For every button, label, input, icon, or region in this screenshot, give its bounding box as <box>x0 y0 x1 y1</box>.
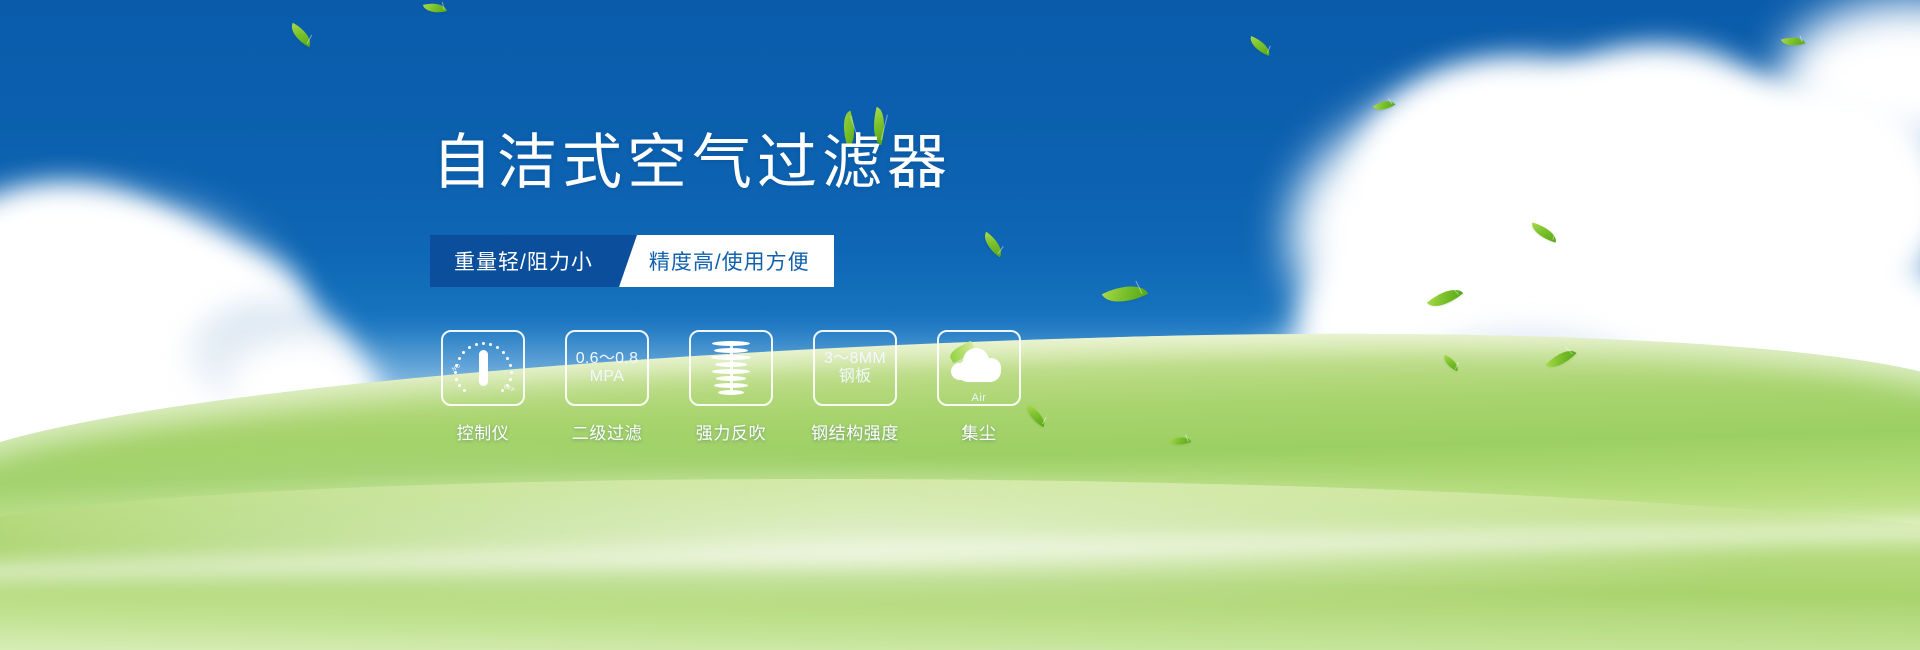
tagline-primary: 重量轻/阻力小 <box>430 235 619 287</box>
feature-caption: 钢结构强度 <box>811 419 899 444</box>
air-label: Air <box>947 392 1011 404</box>
feature-caption: 控制仪 <box>457 419 510 444</box>
tagline-secondary-label: 精度高/使用方便 <box>649 246 810 276</box>
pressure-value: 0.6～0.8 <box>576 350 639 368</box>
gauge-on-label: NO <box>451 363 462 373</box>
pressure-unit: MPA <box>590 368 624 386</box>
feature-item-pressure[interactable]: 0.6～0.8 MPA 二级过滤 <box>558 330 656 444</box>
feature-box <box>689 330 773 406</box>
feature-item-steel[interactable]: 3～8MM 钢板 钢结构强度 <box>806 330 904 444</box>
feature-box: Air <box>937 330 1021 406</box>
banner-content: 自洁式空气过滤器 重量轻/阻力小 精度高/使用方便 <box>0 0 1920 650</box>
feature-list: NO OFF 控制仪 0.6～0.8 MPA 二级过滤 <box>434 330 1028 444</box>
feature-caption: 集尘 <box>961 419 996 444</box>
feature-box: 0.6～0.8 MPA <box>565 330 649 406</box>
tagline-primary-label: 重量轻/阻力小 <box>454 246 593 276</box>
feature-box: NO OFF <box>441 330 525 406</box>
feature-item-blowback[interactable]: 强力反吹 <box>682 330 780 444</box>
steel-thickness: 3～8MM <box>824 350 886 368</box>
gauge-icon: NO OFF <box>453 340 513 396</box>
feature-box: 3～8MM 钢板 <box>813 330 897 406</box>
air-cloud-icon: Air <box>947 344 1011 392</box>
coil-filter-icon <box>704 339 758 397</box>
feature-item-dust[interactable]: Air 集尘 <box>930 330 1028 444</box>
product-banner: 自洁式空气过滤器 重量轻/阻力小 精度高/使用方便 <box>0 0 1920 650</box>
tagline-secondary: 精度高/使用方便 <box>615 235 834 287</box>
steel-material: 钢板 <box>839 368 872 386</box>
page-title: 自洁式空气过滤器 <box>432 133 952 193</box>
feature-caption: 强力反吹 <box>696 419 766 444</box>
feature-item-controller[interactable]: NO OFF 控制仪 <box>434 330 532 444</box>
gauge-off-label: OFF <box>502 384 515 395</box>
tagline-group: 重量轻/阻力小 精度高/使用方便 <box>430 235 834 287</box>
feature-caption: 二级过滤 <box>572 419 642 444</box>
